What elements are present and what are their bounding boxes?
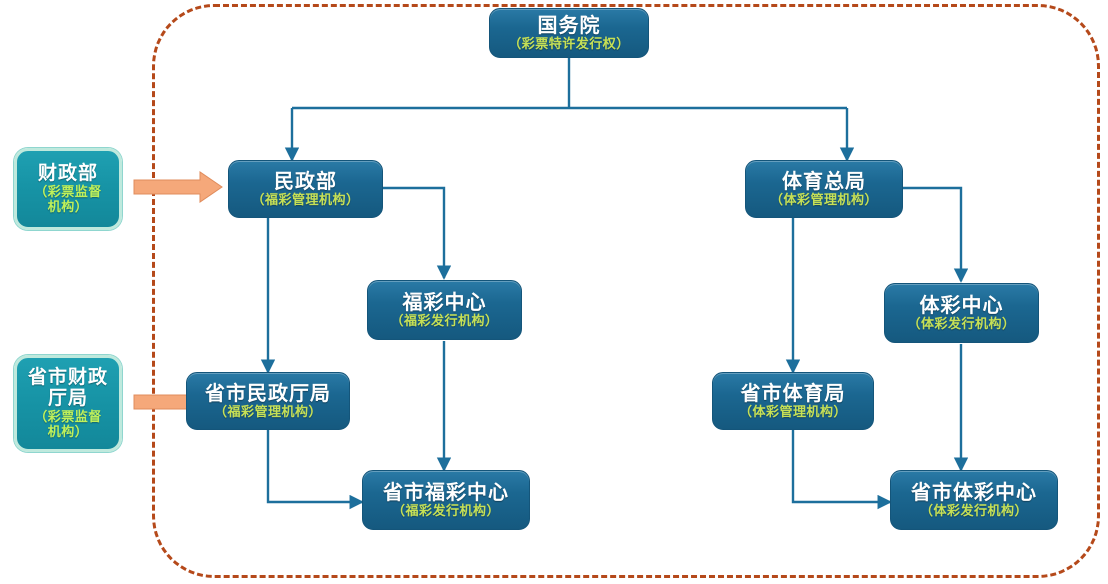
node-shengshi-minzheng[interactable]: 省市民政厅局 （福彩管理机构） xyxy=(186,372,350,430)
node-title: 省市福彩中心 xyxy=(383,481,509,503)
node-title: 省市体育局 xyxy=(741,382,846,404)
node-title: 国务院 xyxy=(538,14,601,36)
supervision-arrow-caizhengbu xyxy=(134,172,222,202)
node-subtitle: （体彩发行机构） xyxy=(907,318,1015,333)
node-title: 财政部 xyxy=(38,163,98,184)
node-subtitle: （福彩发行机构） xyxy=(392,505,500,520)
node-title: 省市体彩中心 xyxy=(911,481,1037,503)
node-subtitle-line2: 机构） xyxy=(48,426,89,441)
node-minzhengbu[interactable]: 民政部 （福彩管理机构） xyxy=(228,160,383,218)
edge-sstiyu-ssticai xyxy=(793,430,890,502)
node-tiyuzongju[interactable]: 体育总局 （体彩管理机构） xyxy=(745,160,903,218)
node-subtitle: （体彩管理机构） xyxy=(770,194,878,209)
node-shengshi-fucai[interactable]: 省市福彩中心 （福彩发行机构） xyxy=(362,470,530,530)
diagram-canvas: 国务院 （彩票特许发行权） 民政部 （福彩管理机构） 体育总局 （体彩管理机构）… xyxy=(0,0,1108,584)
node-shengshi-caizheng[interactable]: 省市财政 厅局 （彩票监督 机构） xyxy=(14,355,122,452)
node-title-line2: 厅局 xyxy=(48,388,88,409)
edge-minzhengbu-fucai xyxy=(383,188,444,278)
edge-tiyuzongju-ticai xyxy=(903,188,961,281)
node-subtitle: （彩票特许发行权） xyxy=(508,38,630,53)
node-subtitle: （福彩管理机构） xyxy=(251,194,359,209)
node-subtitle: （福彩发行机构） xyxy=(390,315,498,330)
node-subtitle-line1: （彩票监督 xyxy=(34,411,102,426)
node-title: 民政部 xyxy=(274,170,337,192)
node-subtitle: （体彩发行机构） xyxy=(920,505,1028,520)
node-caizhengbu[interactable]: 财政部 （彩票监督 机构） xyxy=(14,148,122,230)
node-subtitle-line2: 机构） xyxy=(48,201,89,216)
node-title: 体彩中心 xyxy=(920,294,1004,316)
node-title: 福彩中心 xyxy=(403,291,487,313)
edge-ssminzheng-ssfucai xyxy=(268,430,362,502)
node-shengshi-tiyu[interactable]: 省市体育局 （体彩管理机构） xyxy=(712,372,874,430)
node-subtitle-line1: （彩票监督 xyxy=(34,186,102,201)
node-fucai-zhongxin[interactable]: 福彩中心 （福彩发行机构） xyxy=(367,280,522,340)
node-subtitle: （体彩管理机构） xyxy=(739,406,847,421)
node-title: 体育总局 xyxy=(782,170,866,192)
node-shengshi-ticai[interactable]: 省市体彩中心 （体彩发行机构） xyxy=(890,470,1058,530)
node-title-line1: 省市财政 xyxy=(28,367,108,388)
node-title: 省市民政厅局 xyxy=(205,382,331,404)
node-subtitle: （福彩管理机构） xyxy=(214,406,322,421)
node-guowuyuan[interactable]: 国务院 （彩票特许发行权） xyxy=(489,8,649,58)
node-ticai-zhongxin[interactable]: 体彩中心 （体彩发行机构） xyxy=(884,283,1039,343)
